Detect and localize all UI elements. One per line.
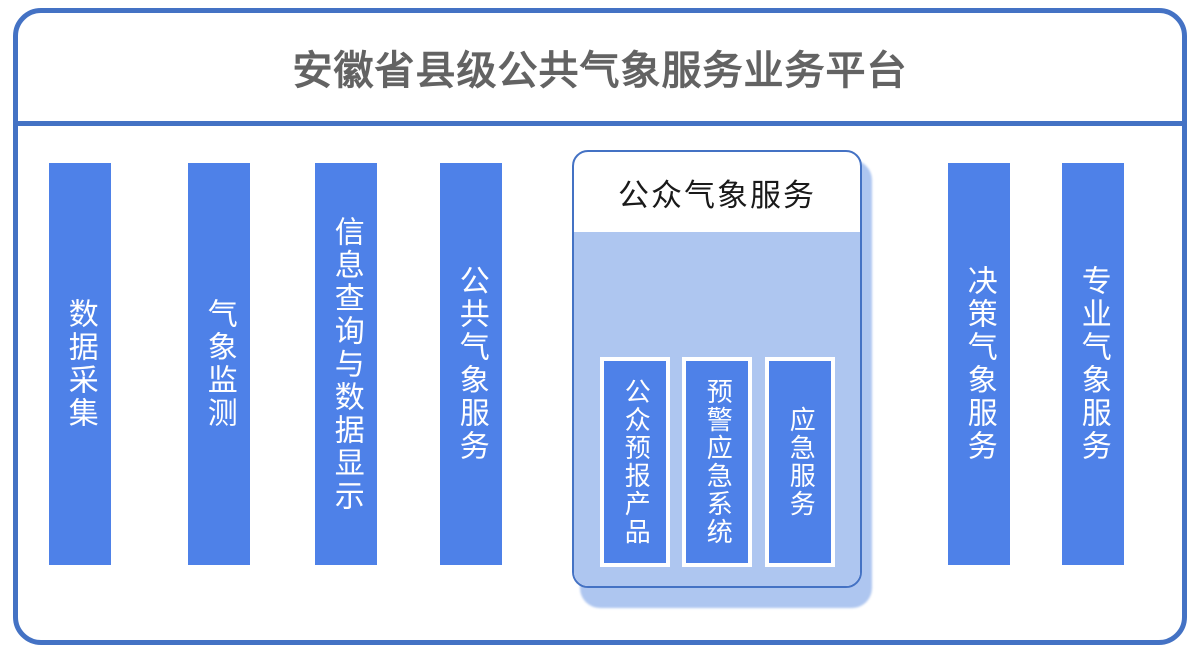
pillar-bar[interactable]: 数据采集 (49, 163, 111, 565)
center-panel-body: 公众预报产品预警应急系统应急服务 (574, 232, 860, 586)
center-item-bar[interactable]: 公众预报产品 (600, 357, 670, 567)
pillar-bar[interactable]: 决策气象服务 (948, 163, 1010, 565)
pillar-bar[interactable]: 公共气象服务 (440, 163, 502, 565)
diagram-canvas: 安徽省县级公共气象服务业务平台 公众气象服务 公众预报产品预警应急系统应急服务 … (0, 0, 1201, 658)
pillar-bar[interactable]: 气象监测 (188, 163, 250, 565)
center-item-bar[interactable]: 预警应急系统 (682, 357, 752, 567)
pillar-label: 专业气象服务 (1076, 265, 1110, 463)
center-item-label: 预警应急系统 (703, 378, 732, 546)
pillar-bar[interactable]: 信息查询与数据显示 (315, 163, 377, 565)
pillar-bar[interactable]: 专业气象服务 (1062, 163, 1124, 565)
center-panel-header: 公众气象服务 (574, 152, 860, 232)
pillar-label: 公共气象服务 (454, 265, 488, 463)
title-divider (18, 121, 1182, 126)
center-panel-public-weather-service[interactable]: 公众气象服务 公众预报产品预警应急系统应急服务 (572, 150, 862, 588)
center-item-bar[interactable]: 应急服务 (765, 357, 835, 567)
pillar-label: 数据采集 (63, 298, 97, 430)
pillar-label: 决策气象服务 (962, 265, 996, 463)
pillar-label: 气象监测 (202, 298, 236, 430)
center-item-label: 应急服务 (786, 406, 815, 518)
pillar-label: 信息查询与数据显示 (329, 216, 363, 513)
center-item-label: 公众预报产品 (621, 378, 650, 546)
page-title: 安徽省县级公共气象服务业务平台 (18, 13, 1182, 121)
